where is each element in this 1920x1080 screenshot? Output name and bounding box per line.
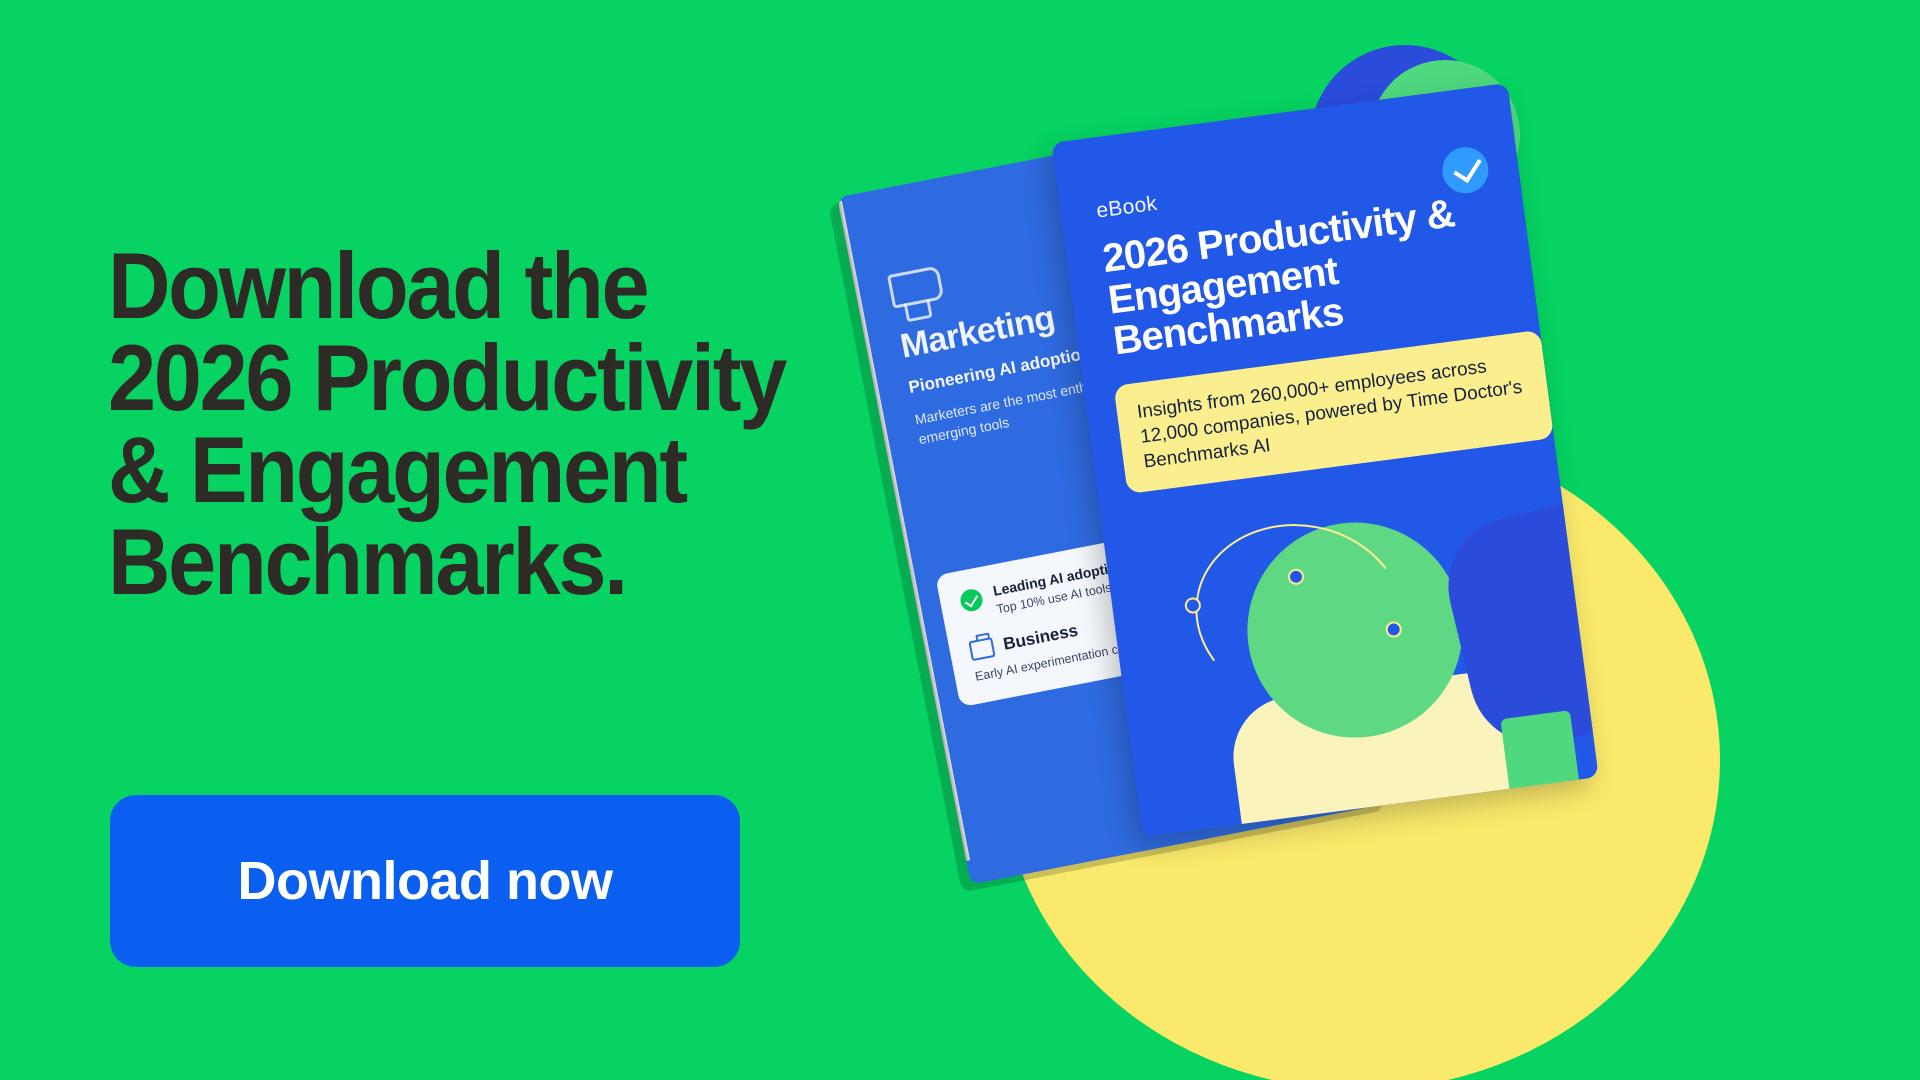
promo-banner: Download the 2026 Productivity & Engagem…: [0, 0, 1920, 1080]
megaphone-icon: [887, 265, 945, 308]
briefcase-icon: [968, 637, 995, 661]
check-icon: [959, 587, 985, 613]
ebook-cover: eBook 2026 Productivity & Engagement Ben…: [1051, 83, 1598, 837]
download-now-button[interactable]: Download now: [110, 795, 740, 967]
ebook-artwork: Marketing Pioneering AI adoption Markete…: [1020, 0, 1920, 1080]
